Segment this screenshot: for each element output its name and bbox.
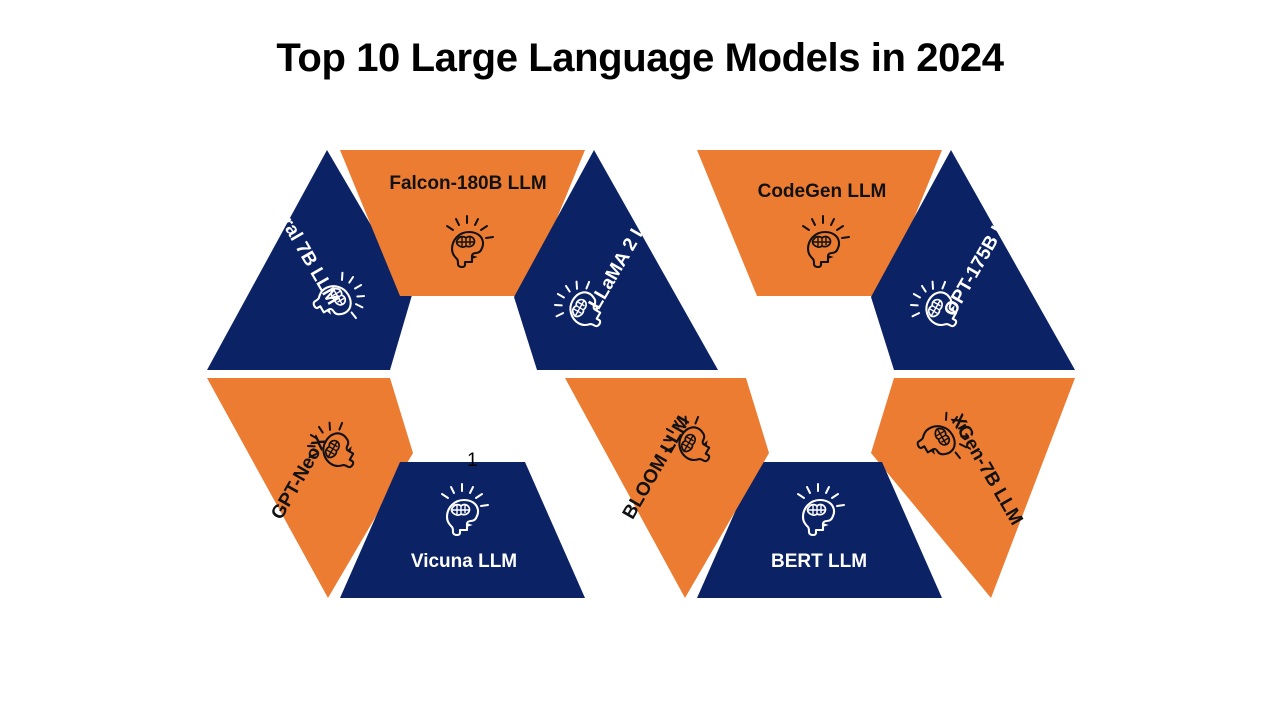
stray-number-label: 1 [467, 450, 478, 472]
segment-label: Falcon-180B LLM [389, 173, 546, 194]
segment-label: Vicuna LLM [411, 551, 517, 572]
llm-cycle-diagram: Mistral 7B LLM Falcon-180B LLM LLaMA 2 L… [0, 0, 1280, 720]
segment-label: BERT LLM [771, 551, 867, 572]
segment-label: CodeGen LLM [758, 181, 887, 202]
slide-canvas: Top 10 Large Language Models in 2024 [0, 0, 1280, 720]
